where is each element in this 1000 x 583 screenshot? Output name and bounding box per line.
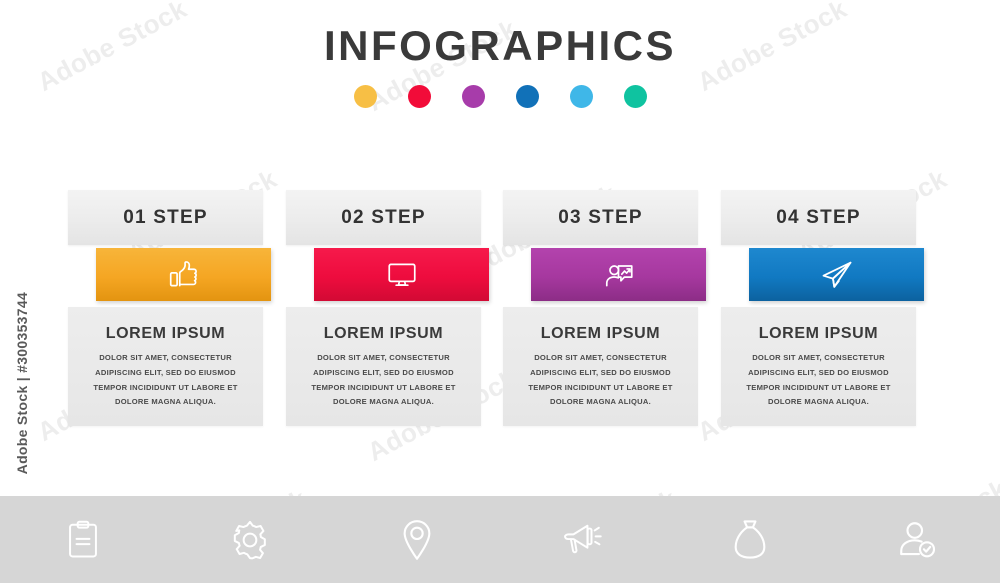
- step-card-1-header: 01 STEP: [68, 190, 263, 245]
- stock-watermark-label: Adobe Stock | #300353744: [14, 292, 30, 474]
- step-card-1-icon-band: [96, 248, 271, 301]
- step-card-4-icon-band: [749, 248, 924, 301]
- step-card-1[interactable]: 01 STEP LOREM IPSUM DOLOR SIT AMET, CONS…: [68, 190, 263, 426]
- presentation-person-icon: [602, 258, 636, 292]
- step-card-4-description: DOLOR SIT AMET, CONSECTETUR ADIPISCING E…: [731, 351, 906, 410]
- step-card-2-description: DOLOR SIT AMET, CONSECTETUR ADIPISCING E…: [296, 351, 471, 410]
- footer-item-verified-user[interactable]: [833, 520, 1000, 560]
- step-card-3-step-label: 03 STEP: [558, 207, 642, 229]
- footer-icon-bar: [0, 496, 1000, 583]
- step-card-2-body: LOREM IPSUM DOLOR SIT AMET, CONSECTETUR …: [286, 307, 481, 426]
- step-card-4-heading: LOREM IPSUM: [731, 325, 906, 343]
- step-card-2[interactable]: 02 STEP LOREM IPSUM DOLOR SIT AMET, CONS…: [286, 190, 481, 426]
- dot-purple: [462, 85, 485, 108]
- step-card-3-body: LOREM IPSUM DOLOR SIT AMET, CONSECTETUR …: [503, 307, 698, 426]
- money-bag-icon: [732, 519, 768, 561]
- color-dot-row: [0, 85, 1000, 108]
- step-card-2-header: 02 STEP: [286, 190, 481, 245]
- infographic-canvas: Adobe Stock Adobe Stock Adobe Stock Adob…: [0, 0, 1000, 583]
- step-card-4[interactable]: 04 STEP LOREM IPSUM DOLOR SIT AMET, CONS…: [721, 190, 916, 426]
- step-card-2-heading: LOREM IPSUM: [296, 325, 471, 343]
- step-card-3-heading: LOREM IPSUM: [513, 325, 688, 343]
- desktop-monitor-icon: [385, 258, 419, 292]
- dot-light-blue: [570, 85, 593, 108]
- step-card-4-body: LOREM IPSUM DOLOR SIT AMET, CONSECTETUR …: [721, 307, 916, 426]
- dot-red: [408, 85, 431, 108]
- step-card-3[interactable]: 03 STEP LOREM IPSUM DOLOR SIT AMET, CONS…: [503, 190, 698, 426]
- step-card-1-description: DOLOR SIT AMET, CONSECTETUR ADIPISCING E…: [78, 351, 253, 410]
- clipboard-icon: [65, 520, 101, 560]
- dot-blue: [516, 85, 539, 108]
- dot-teal: [624, 85, 647, 108]
- megaphone-icon: [562, 521, 604, 559]
- step-card-1-heading: LOREM IPSUM: [78, 325, 253, 343]
- step-card-3-icon-band: [531, 248, 706, 301]
- footer-item-settings[interactable]: [167, 520, 334, 560]
- step-card-1-body: LOREM IPSUM DOLOR SIT AMET, CONSECTETUR …: [68, 307, 263, 426]
- gear-icon: [230, 520, 270, 560]
- user-verified-icon: [897, 520, 937, 560]
- footer-item-clipboard[interactable]: [0, 520, 167, 560]
- step-card-4-header: 04 STEP: [721, 190, 916, 245]
- step-card-2-step-label: 02 STEP: [341, 207, 425, 229]
- dot-yellow: [354, 85, 377, 108]
- footer-item-location[interactable]: [333, 519, 500, 561]
- footer-item-money-bag[interactable]: [667, 519, 834, 561]
- step-card-row: 01 STEP LOREM IPSUM DOLOR SIT AMET, CONS…: [68, 190, 932, 426]
- location-pin-icon: [400, 519, 434, 561]
- footer-item-announcement[interactable]: [500, 521, 667, 559]
- step-card-3-header: 03 STEP: [503, 190, 698, 245]
- step-card-3-description: DOLOR SIT AMET, CONSECTETUR ADIPISCING E…: [513, 351, 688, 410]
- thumbs-up-icon: [167, 258, 201, 292]
- step-card-1-step-label: 01 STEP: [123, 207, 207, 229]
- step-card-2-icon-band: [314, 248, 489, 301]
- paper-plane-icon: [819, 257, 855, 293]
- page-title: INFOGRAPHICS: [0, 22, 1000, 70]
- step-card-4-step-label: 04 STEP: [776, 207, 860, 229]
